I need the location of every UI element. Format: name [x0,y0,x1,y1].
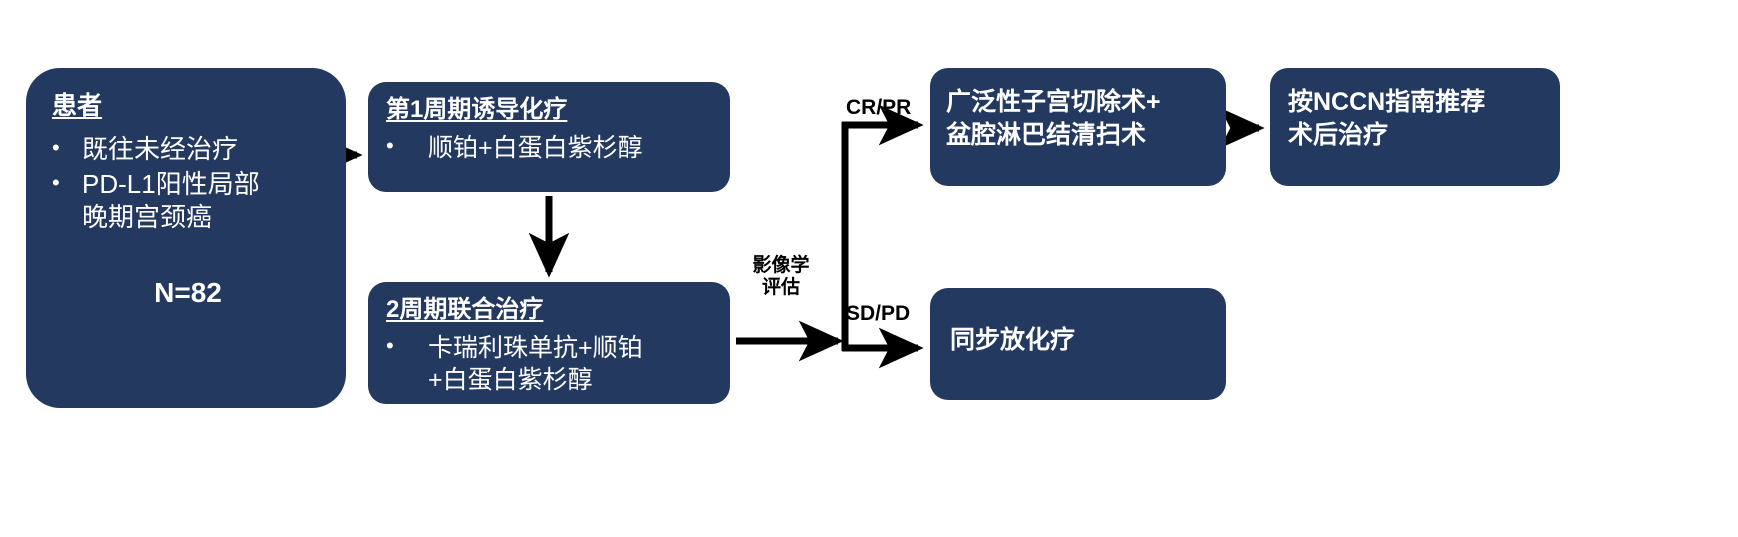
edge-label-sd-pd: SD/PD [846,302,910,326]
node-patients-title: 患者 [52,92,324,121]
node-induction-title: 第1周期诱导化疗 [386,96,720,124]
bullet-dot-icon: • [386,132,394,160]
node-patients-bullet-list: • 既往未经治疗 • PD-L1阳性局部 晚期宫颈癌 [52,133,324,235]
node-combination-therapy[interactable]: 2周期联合治疗 • 卡瑞利珠单抗+顺铂 +白蛋白紫杉醇 [368,282,730,404]
list-item-label: PD-L1阳性局部 [82,169,260,199]
edge-label-imaging-line2: 评估 [745,277,817,299]
node-combination-bullet-list: • 卡瑞利珠单抗+顺铂 [386,332,720,364]
node-concurrent-chemoradiation[interactable]: 同步放化疗 [930,288,1226,400]
edge-label-imaging-line1: 影像学 [745,255,817,277]
node-patients-sample-size: N=82 [52,277,324,309]
node-surgery-line1: 广泛性子宫切除术+ [946,86,1212,119]
node-chemoradiation-line1: 同步放化疗 [950,324,1212,357]
node-induction-chemo[interactable]: 第1周期诱导化疗 • 顺铂+白蛋白紫杉醇 [368,82,730,192]
list-item-label: 卡瑞利珠单抗+顺铂 [428,334,643,362]
edge-label-imaging-evaluation: 影像学 评估 [745,255,817,299]
bullet-dot-icon: • [386,332,394,360]
node-combination-bullet-line2: +白蛋白紫杉醇 [386,364,720,396]
bullet-dot-icon: • [52,169,60,197]
list-item: • 顺铂+白蛋白紫杉醇 [386,132,720,164]
node-nccn-line1: 按NCCN指南推荐 [1288,86,1546,119]
bullet-dot-icon: • [52,134,60,162]
list-item-label: 顺铂+白蛋白紫杉醇 [428,134,643,162]
node-patients[interactable]: 患者 • 既往未经治疗 • PD-L1阳性局部 晚期宫颈癌 N=82 [26,68,346,408]
node-combination-title: 2周期联合治疗 [386,296,720,324]
node-surgery-line2: 盆腔淋巴结清扫术 [946,119,1212,152]
node-radical-hysterectomy[interactable]: 广泛性子宫切除术+ 盆腔淋巴结清扫术 [930,68,1226,186]
list-item-label-cont: 晚期宫颈癌 [82,202,212,232]
list-item-label: 既往未经治疗 [82,134,238,164]
list-item: • PD-L1阳性局部 晚期宫颈癌 [52,168,324,235]
edge-label-cr-pr: CR/PR [846,96,911,120]
node-induction-bullet-list: • 顺铂+白蛋白紫杉醇 [386,132,720,164]
node-nccn-postop-therapy[interactable]: 按NCCN指南推荐 术后治疗 [1270,68,1560,186]
node-nccn-line2: 术后治疗 [1288,119,1546,152]
list-item: • 既往未经治疗 [52,133,324,166]
list-item: • 卡瑞利珠单抗+顺铂 [386,332,720,364]
flowchart-canvas: 患者 • 既往未经治疗 • PD-L1阳性局部 晚期宫颈癌 N=82 第1周期诱… [0,0,1738,537]
